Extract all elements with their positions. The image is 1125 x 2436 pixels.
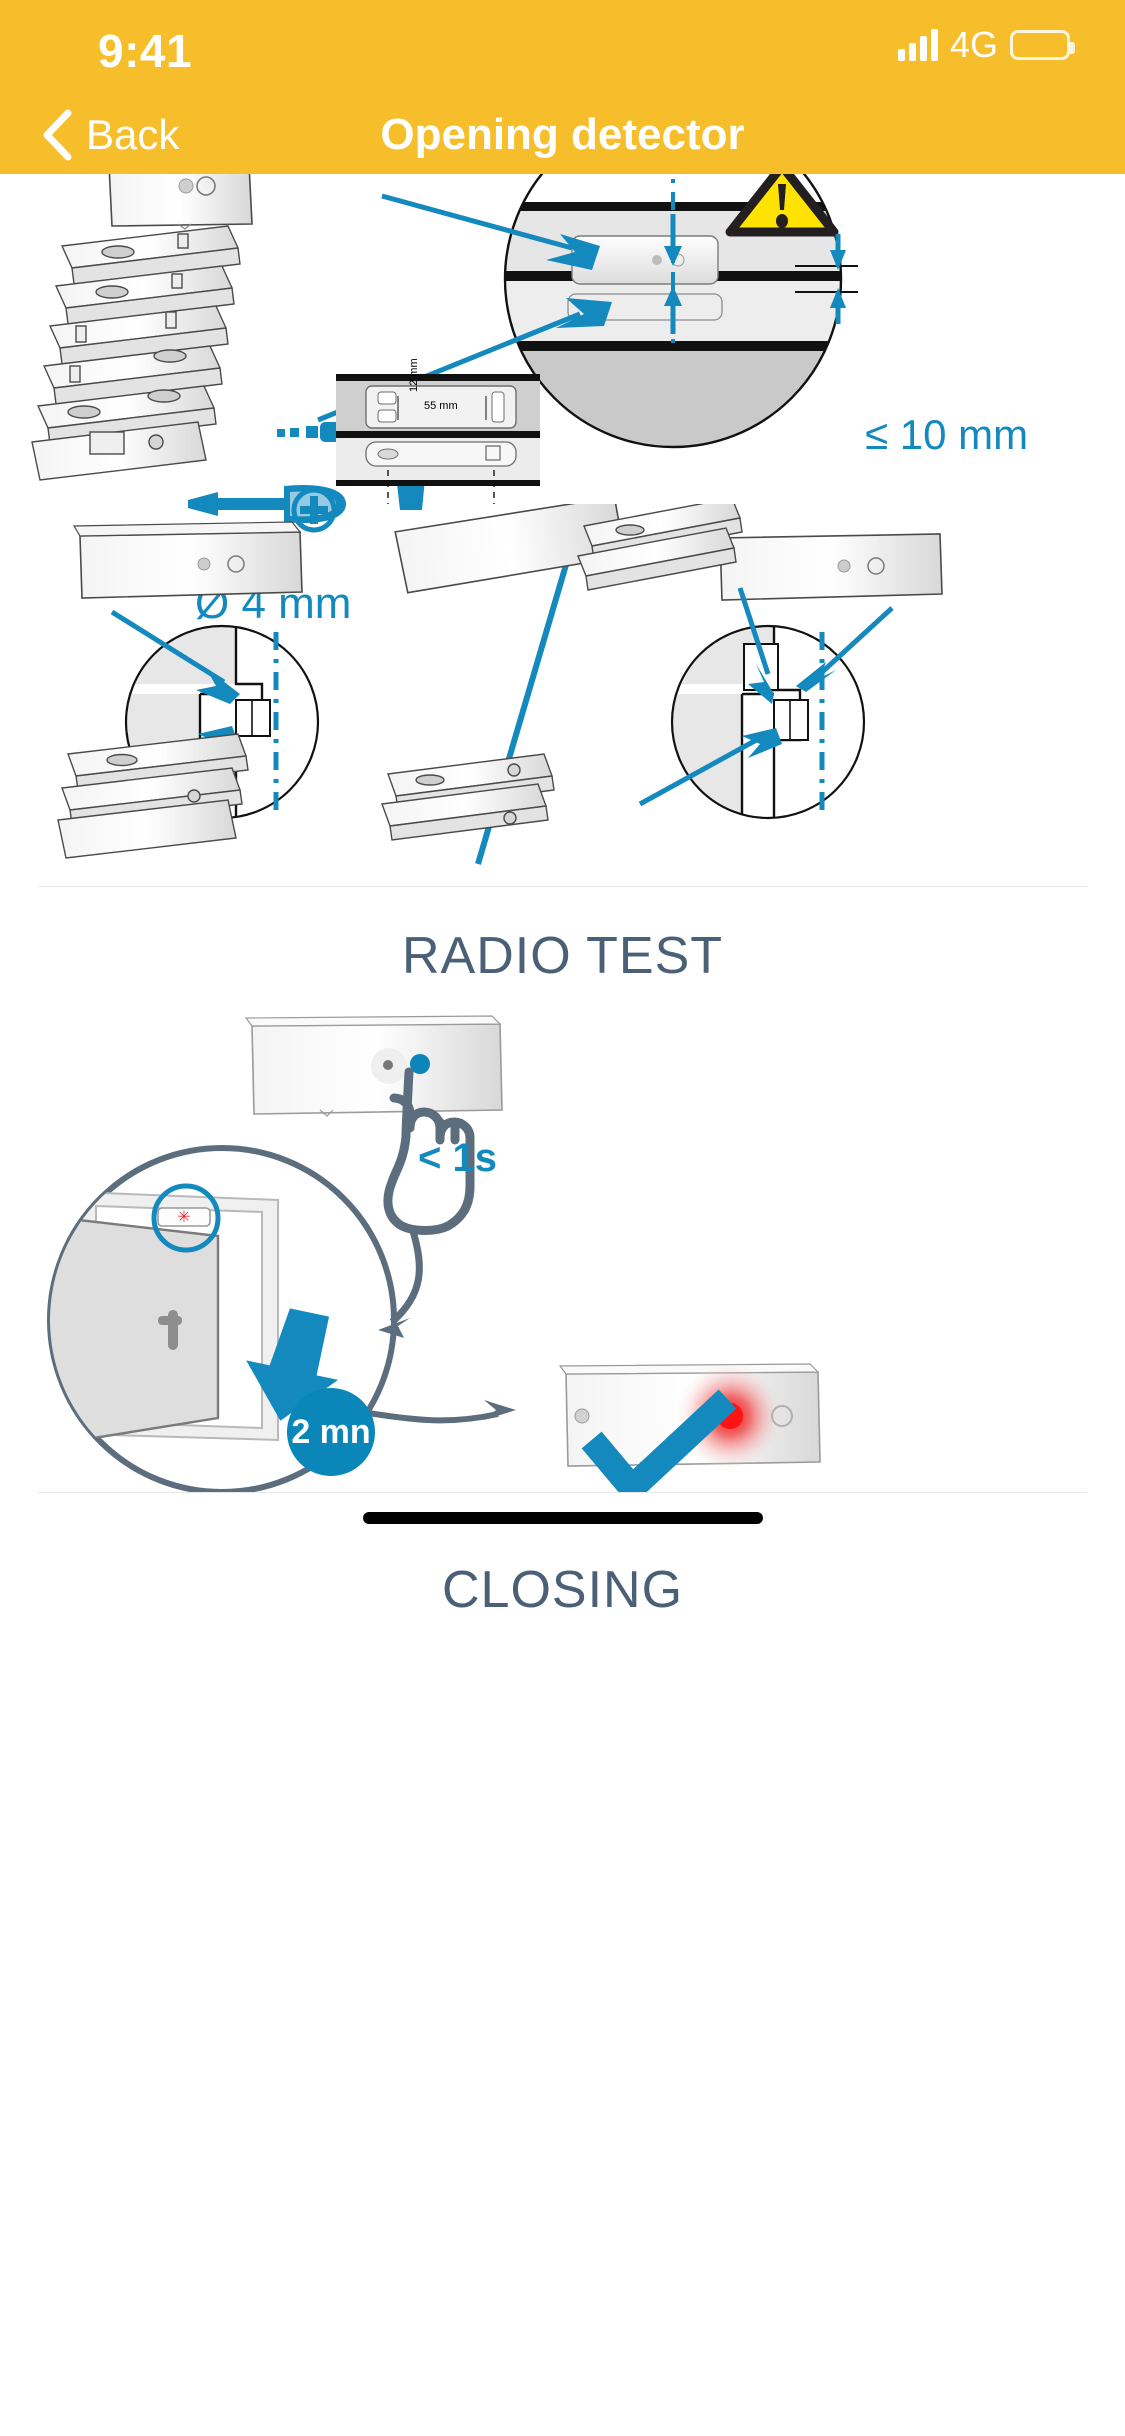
mounting-options-illustration <box>0 504 1125 894</box>
status-bar: 9:41 4G <box>0 0 1125 96</box>
wait-duration-badge: 2 mn <box>287 1388 375 1476</box>
mounting-option-right <box>382 504 942 840</box>
navigation-bar: Opening detector Back <box>0 96 1125 174</box>
press-duration-label: < 1s <box>418 1136 497 1181</box>
detector-module-icon <box>246 1016 502 1116</box>
bracket-length-label: 55 mm <box>424 400 458 412</box>
curved-arrow-icon <box>378 1228 419 1338</box>
status-time: 9:41 <box>98 24 192 78</box>
radio-test-illustration: ✳ <box>0 1010 1125 1492</box>
drilling-template-diagram <box>336 374 540 504</box>
gap-max-label: ≤ 10 mm <box>865 411 1028 459</box>
magnet-bracket-icon <box>32 226 240 480</box>
home-indicator <box>363 1512 763 1524</box>
battery-full-icon <box>1010 30 1070 60</box>
closing-heading: CLOSING <box>0 1560 1125 1620</box>
section-divider <box>38 1492 1087 1493</box>
instruction-content[interactable]: ≤ 10 mm Ø 4 mm 55 mm 12 mm <box>0 174 1125 2436</box>
svg-text:✳: ✳ <box>177 1209 190 1226</box>
mounting-option-left <box>58 522 318 858</box>
bracket-width-label: 12 mm <box>408 358 420 392</box>
radio-test-heading: RADIO TEST <box>0 926 1125 986</box>
chevron-left-icon <box>42 109 72 161</box>
back-button[interactable]: Back <box>30 96 191 174</box>
status-indicators: 4G <box>898 27 1070 63</box>
back-label: Back <box>86 111 179 159</box>
signal-bars-icon <box>898 29 938 61</box>
detector-module-icon <box>108 174 252 229</box>
network-type-label: 4G <box>950 27 998 63</box>
section-divider <box>38 886 1087 887</box>
